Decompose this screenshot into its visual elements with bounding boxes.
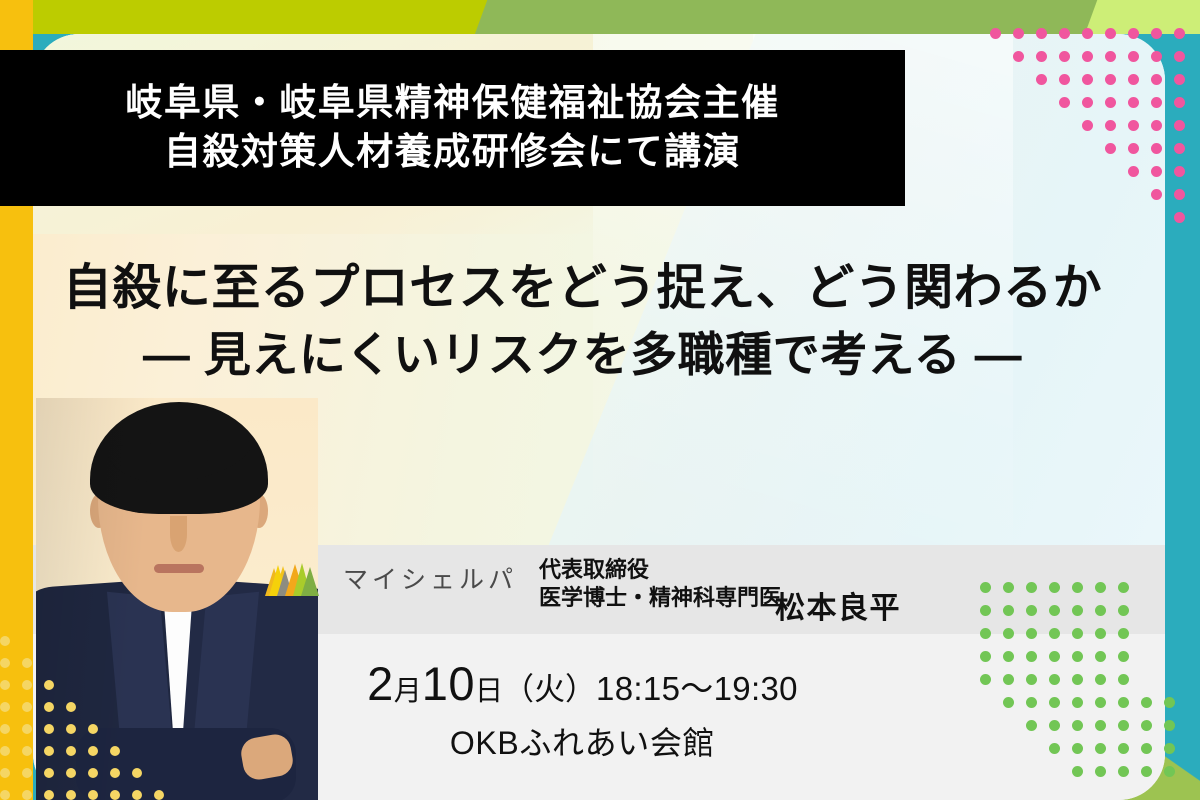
top-band-segment-mid — [469, 0, 1191, 34]
event-time-range: 18:15〜19:30 — [596, 670, 798, 707]
lecture-title-subtitle: ― 見えにくいリスクを多職種で考える ― — [0, 324, 1165, 385]
lecture-title-main: 自殺に至るプロセスをどう捉え、どう関わるか — [0, 258, 1165, 320]
host-banner: 岐阜県・岐阜県精神保健福祉協会主催 自殺対策人材養成研修会にて講演 — [0, 50, 905, 206]
event-datetime: 2月10日（火）18:15〜19:30 — [0, 656, 1165, 711]
top-green-band — [0, 0, 1200, 34]
host-banner-line-2: 自殺対策人材養成研修会にて講演 — [164, 131, 741, 174]
speaker-role-line-2: 医学博士・精神科専門医 — [539, 584, 781, 612]
event-month-unit: 月 — [394, 675, 422, 706]
event-weekday: （火） — [503, 672, 596, 707]
speaker-role-block: 代表取締役 医学博士・精神科専門医 — [539, 556, 781, 611]
mountain-logo-icon — [255, 560, 329, 596]
seminar-poster: 岐阜県・岐阜県精神保健福祉協会主催 自殺対策人材養成研修会にて講演 自殺に至るプ… — [0, 0, 1200, 800]
top-band-segment-gold — [0, 0, 33, 34]
speaker-role-line-1: 代表取締役 — [539, 556, 781, 584]
host-banner-line-1: 岐阜県・岐阜県精神保健福祉協会主催 — [125, 82, 779, 125]
lecture-title-block: 自殺に至るプロセスをどう捉え、どう関わるか ― 見えにくいリスクを多職種で考える… — [0, 258, 1165, 385]
company-logo-text: マイシェルパ — [343, 560, 517, 596]
event-venue: OKBふれあい会館 — [0, 718, 1165, 764]
event-day-number: 10 — [422, 657, 475, 710]
top-band-segment-right — [1079, 0, 1200, 34]
speaker-name: 松本良平 — [775, 583, 901, 627]
event-day-unit: 日 — [475, 675, 503, 706]
speaker-block: マイシェルパ 代表取締役 医学博士・精神科専門医 — [255, 556, 781, 611]
event-month-number: 2 — [367, 657, 394, 710]
